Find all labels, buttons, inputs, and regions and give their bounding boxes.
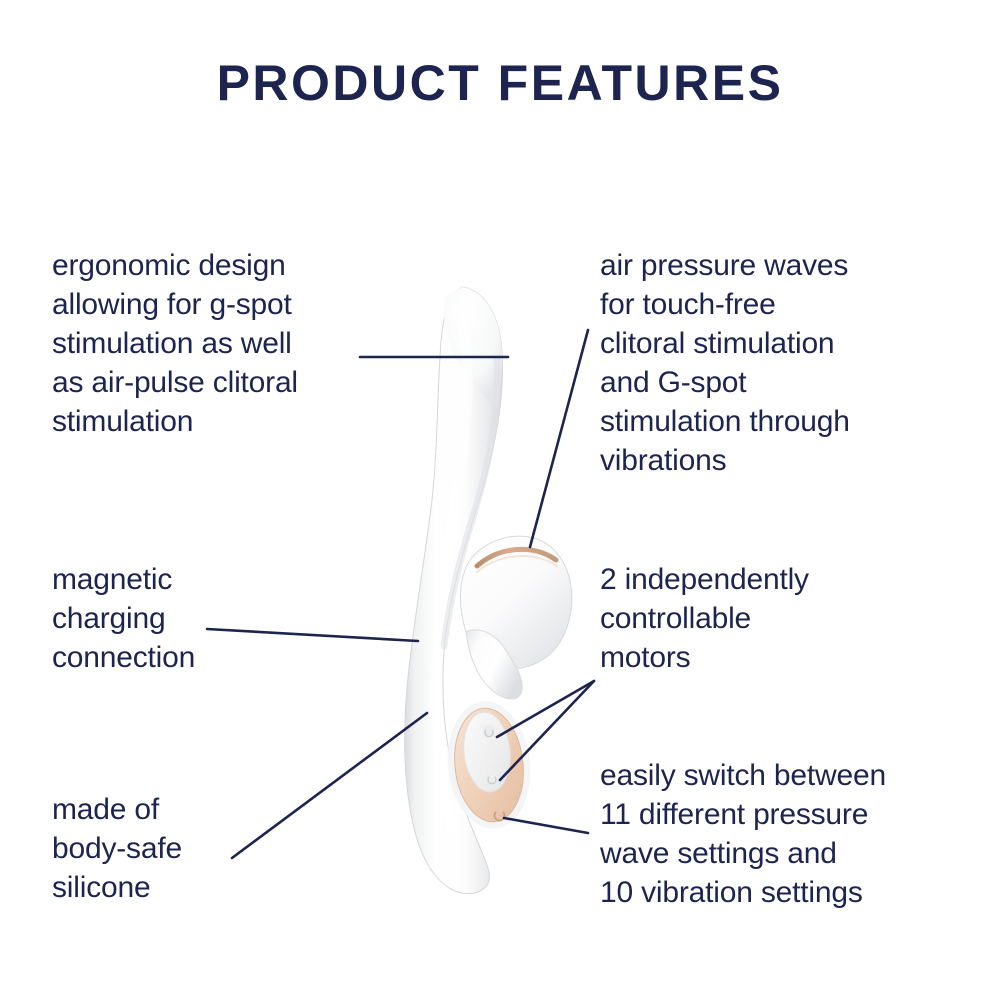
leader-lines xyxy=(0,0,1000,1000)
leader-line-magnetic xyxy=(207,629,418,641)
leader-line-silicone xyxy=(232,713,427,858)
leader-line-motors-upper xyxy=(497,681,594,737)
product-features-infographic: PRODUCT FEATURES ergonomic design allowi… xyxy=(0,0,1000,1000)
leader-line-settings xyxy=(504,818,588,833)
leader-line-motors-lower xyxy=(500,681,594,780)
leader-line-airwaves xyxy=(530,330,588,547)
